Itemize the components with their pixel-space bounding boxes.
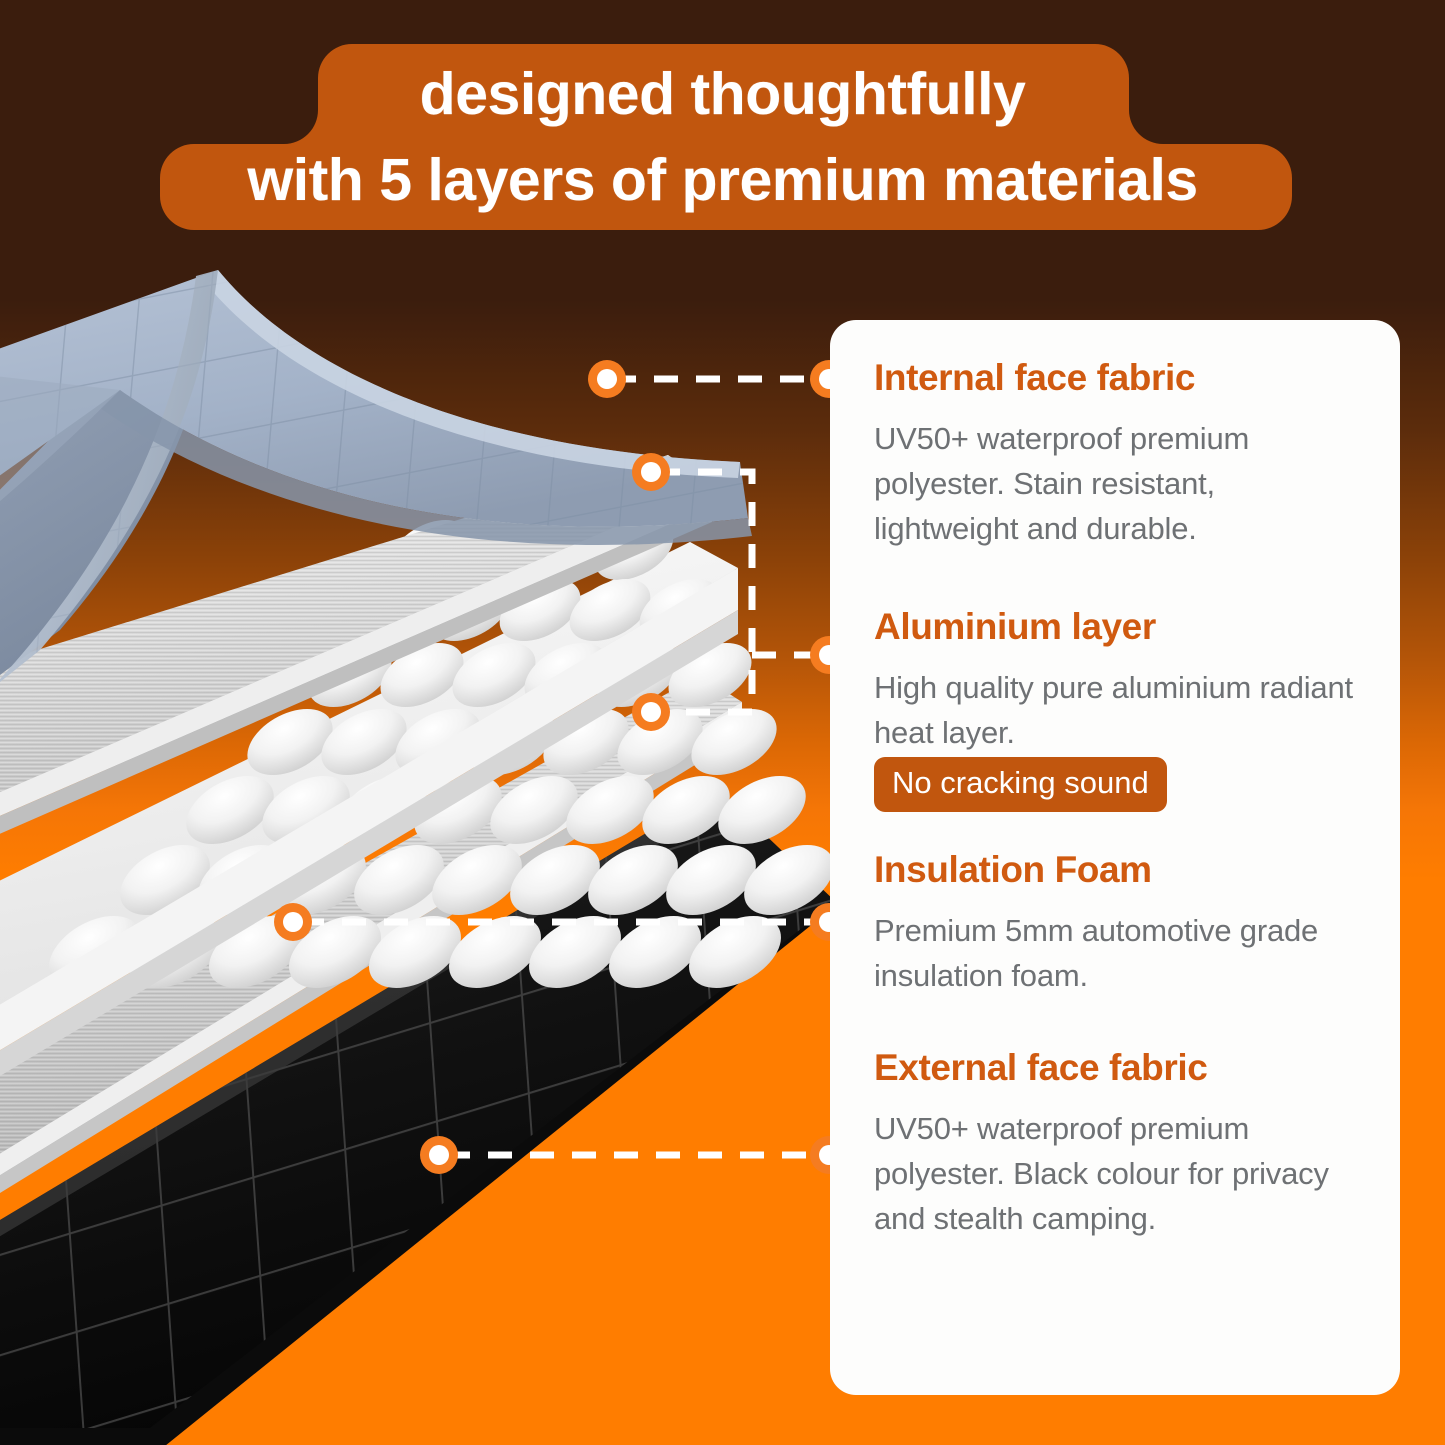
layer-block-external-face-fabric: External face fabric UV50+ waterproof pr… [874, 1046, 1366, 1241]
layer-block-aluminium-layer: Aluminium layer High quality pure alumin… [874, 605, 1366, 812]
layer-body-insulation-foam: Premium 5mm automotive grade insulation … [874, 908, 1366, 998]
layer-body-aluminium-layer: High quality pure aluminium radiant heat… [874, 665, 1366, 755]
layer-block-insulation-foam: Insulation Foam Premium 5mm automotive g… [874, 848, 1366, 998]
layer-title-internal-face-fabric: Internal face fabric [874, 356, 1366, 400]
spacer-2 [874, 814, 1366, 848]
layer-title-aluminium-layer: Aluminium layer [874, 605, 1366, 649]
header-banner: designed thoughtfully with 5 layers of p… [0, 0, 1445, 250]
infographic-root: Internal face fabric UV50+ waterproof pr… [0, 0, 1445, 1445]
layer-stack-illustration [0, 250, 880, 1445]
layer-body-internal-face-fabric: UV50+ waterproof premium polyester. Stai… [874, 416, 1366, 551]
layer-title-insulation-foam: Insulation Foam [874, 848, 1366, 892]
header-title-line-1: designed thoughtfully [0, 62, 1445, 126]
layer-body-external-face-fabric: UV50+ waterproof premium polyester. Blac… [874, 1106, 1366, 1241]
layer-block-internal-face-fabric: Internal face fabric UV50+ waterproof pr… [874, 356, 1366, 551]
layer-title-external-face-fabric: External face fabric [874, 1046, 1366, 1090]
no-cracking-sound-badge: No cracking sound [874, 757, 1167, 812]
spacer-1 [874, 553, 1366, 605]
header-title-line-2: with 5 layers of premium materials [0, 148, 1445, 212]
layer-info-card: Internal face fabric UV50+ waterproof pr… [830, 320, 1400, 1395]
spacer-3 [874, 1000, 1366, 1046]
